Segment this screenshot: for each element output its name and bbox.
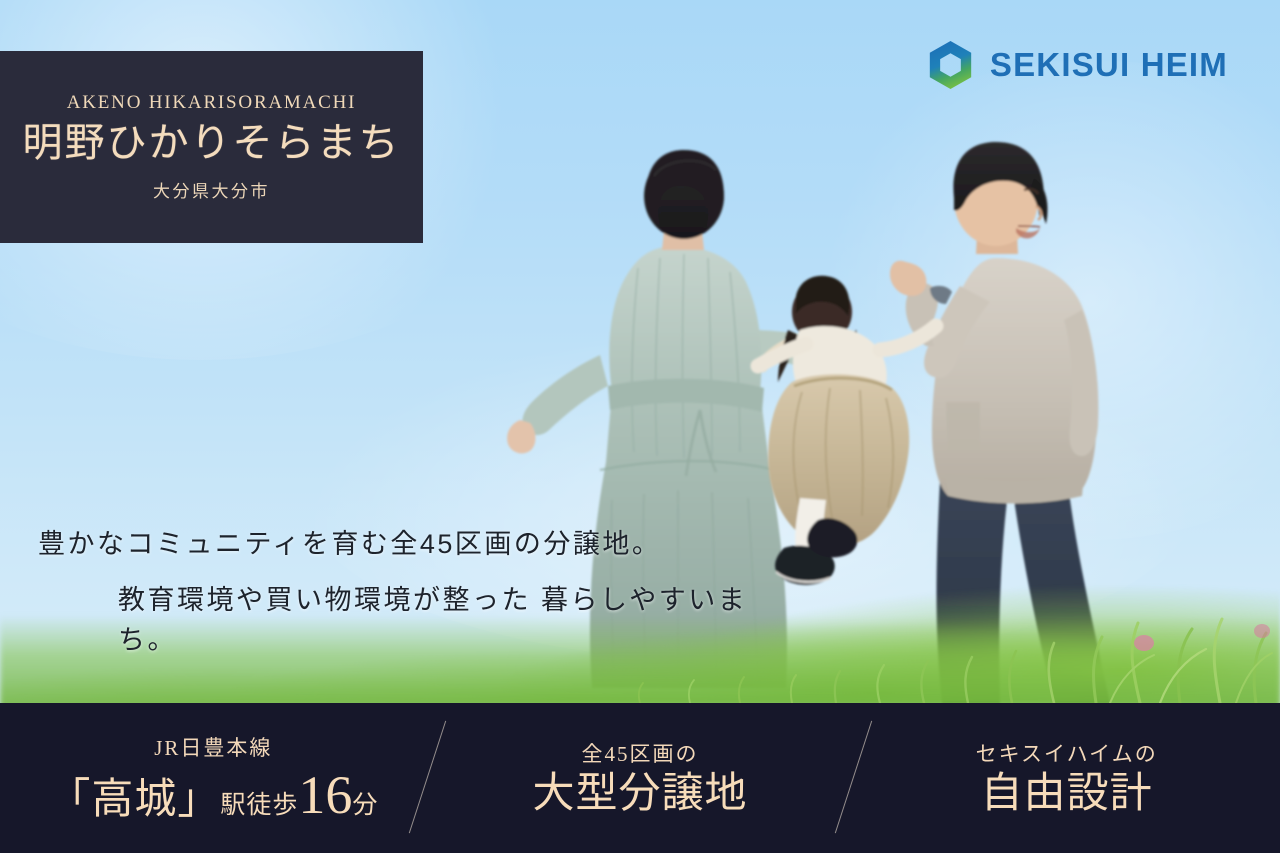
- feature-access-label: JR日豊本線: [154, 732, 272, 762]
- brand-logo[interactable]: SEKISUI HEIM: [927, 40, 1228, 90]
- catch-copy-line-2: 教育環境や買い物環境が整った 暮らしやすいまち。: [0, 580, 770, 661]
- feature-design-value: 自由設計: [981, 772, 1153, 817]
- feature-access-minutes: 16: [298, 766, 352, 824]
- project-title-romaji: AKENO HIKARISORAMACHI: [67, 92, 357, 114]
- catch-copy-line-1: 豊かなコミュニティを育む全45区画の分譲地。: [0, 524, 770, 565]
- feature-design: セキスイハイムの 自由設計: [853, 738, 1280, 817]
- feature-access-value: 「高城」 駅徒歩 16 分: [48, 766, 378, 824]
- feature-access-unit: 分: [352, 792, 378, 819]
- feature-lots-label: 全45区画の: [582, 738, 699, 768]
- hero-banner: AKENO HIKARISORAMACHI 明野ひかりそらまち 大分県大分市 S…: [0, 0, 1280, 853]
- project-location: 大分県大分市: [153, 177, 270, 202]
- feature-design-label: セキスイハイムの: [976, 738, 1158, 768]
- feature-access: JR日豊本線 「高城」 駅徒歩 16 分: [0, 732, 427, 824]
- brand-name: SEKISUI HEIM: [990, 46, 1228, 84]
- catch-copy: 豊かなコミュニティを育む全45区画の分譲地。 教育環境や買い物環境が整った 暮ら…: [0, 524, 770, 661]
- feature-access-walk: 駅徒歩: [220, 792, 298, 819]
- feature-lots-value: 大型分譲地: [533, 772, 748, 817]
- feature-access-station: 「高城」: [48, 778, 220, 823]
- feature-bar: JR日豊本線 「高城」 駅徒歩 16 分 全45区画の 大型分譲地 セキスイハイ…: [0, 703, 1280, 853]
- project-title-panel: AKENO HIKARISORAMACHI 明野ひかりそらまち 大分県大分市: [0, 51, 423, 243]
- feature-lots: 全45区画の 大型分譲地: [427, 738, 854, 817]
- project-title-main: 明野ひかりそらまち: [23, 121, 401, 166]
- sekisui-hexagon-logo-icon: [927, 40, 974, 90]
